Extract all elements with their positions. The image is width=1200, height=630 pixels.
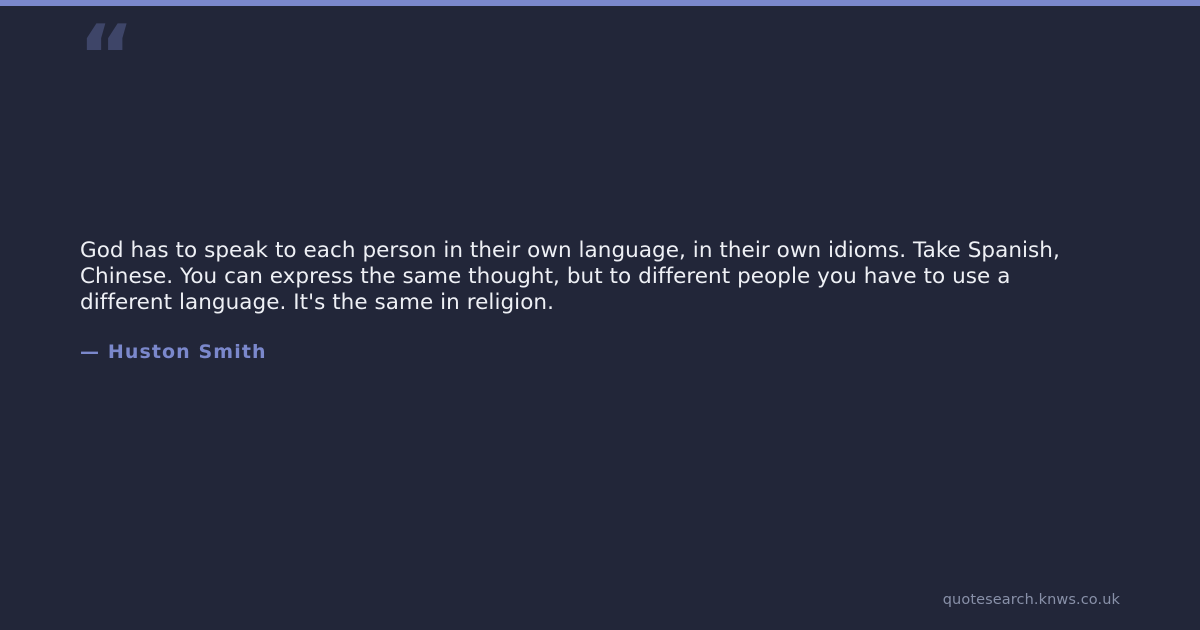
quotation-mark-icon: “ [78, 14, 133, 100]
quote-text-block: God has to speak to each person in their… [80, 238, 1120, 316]
quote-card: “ God has to speak to each person in the… [0, 0, 1200, 630]
quote-line: different language. It's the same in rel… [80, 290, 1120, 316]
footer-site-url: quotesearch.knws.co.uk [943, 592, 1120, 608]
quote-line: Chinese. You can express the same though… [80, 264, 1120, 290]
quote-line: God has to speak to each person in their… [80, 238, 1120, 264]
quote-attribution: — Huston Smith [80, 341, 267, 363]
top-accent-bar [0, 0, 1200, 6]
